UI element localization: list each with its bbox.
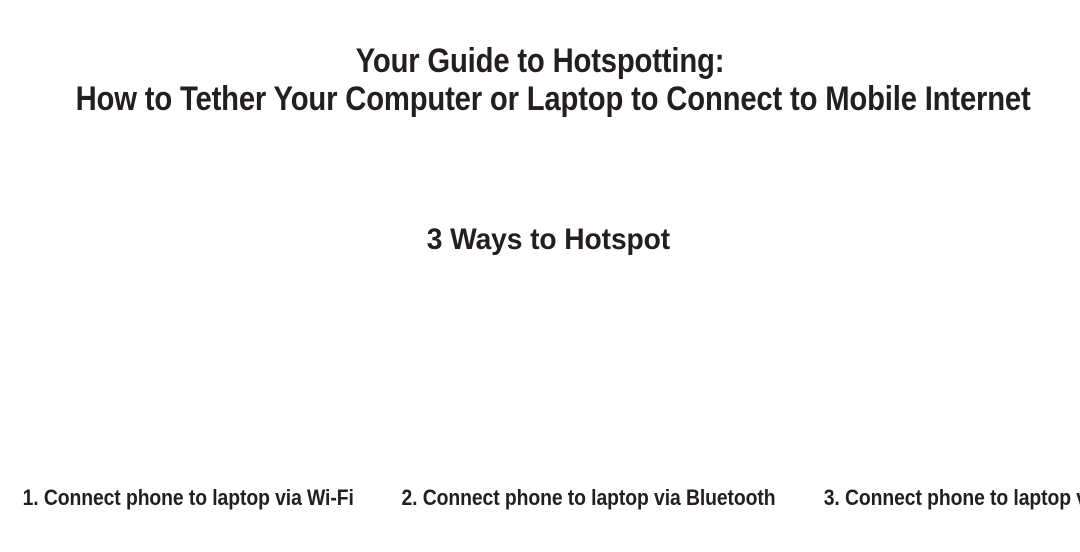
illustration-band [0,278,1080,478]
method-caption-3-label: 3. Connect phone to laptop via cable [824,486,1080,510]
section-heading-container: 3 Ways to Hotspot [0,222,1080,258]
method-caption-2-label: 2. Connect phone to laptop via Bluetooth [402,486,776,510]
cable-tether-illustration [720,278,1080,478]
page-title: Your Guide to Hotspotting: How to Tether… [0,42,1080,118]
method-caption-2: 2. Connect phone to laptop via Bluetooth [376,486,801,514]
section-heading: 3 Ways to Hotspot [426,222,669,258]
wifi-tether-illustration [0,278,360,478]
bluetooth-tether-illustration [360,278,720,478]
method-caption-1-label: 1. Connect phone to laptop via Wi-Fi [23,486,354,510]
page-title-line-1: Your Guide to Hotspotting: [76,42,1005,80]
method-caption-row: 1. Connect phone to laptop via Wi-Fi 2. … [0,486,1080,514]
method-caption-3: 3. Connect phone to laptop via cable [801,486,1080,514]
infographic-page: Your Guide to Hotspotting: How to Tether… [0,0,1080,552]
method-caption-1: 1. Connect phone to laptop via Wi-Fi [0,486,376,514]
page-title-line-2: How to Tether Your Computer or Laptop to… [76,80,1005,118]
